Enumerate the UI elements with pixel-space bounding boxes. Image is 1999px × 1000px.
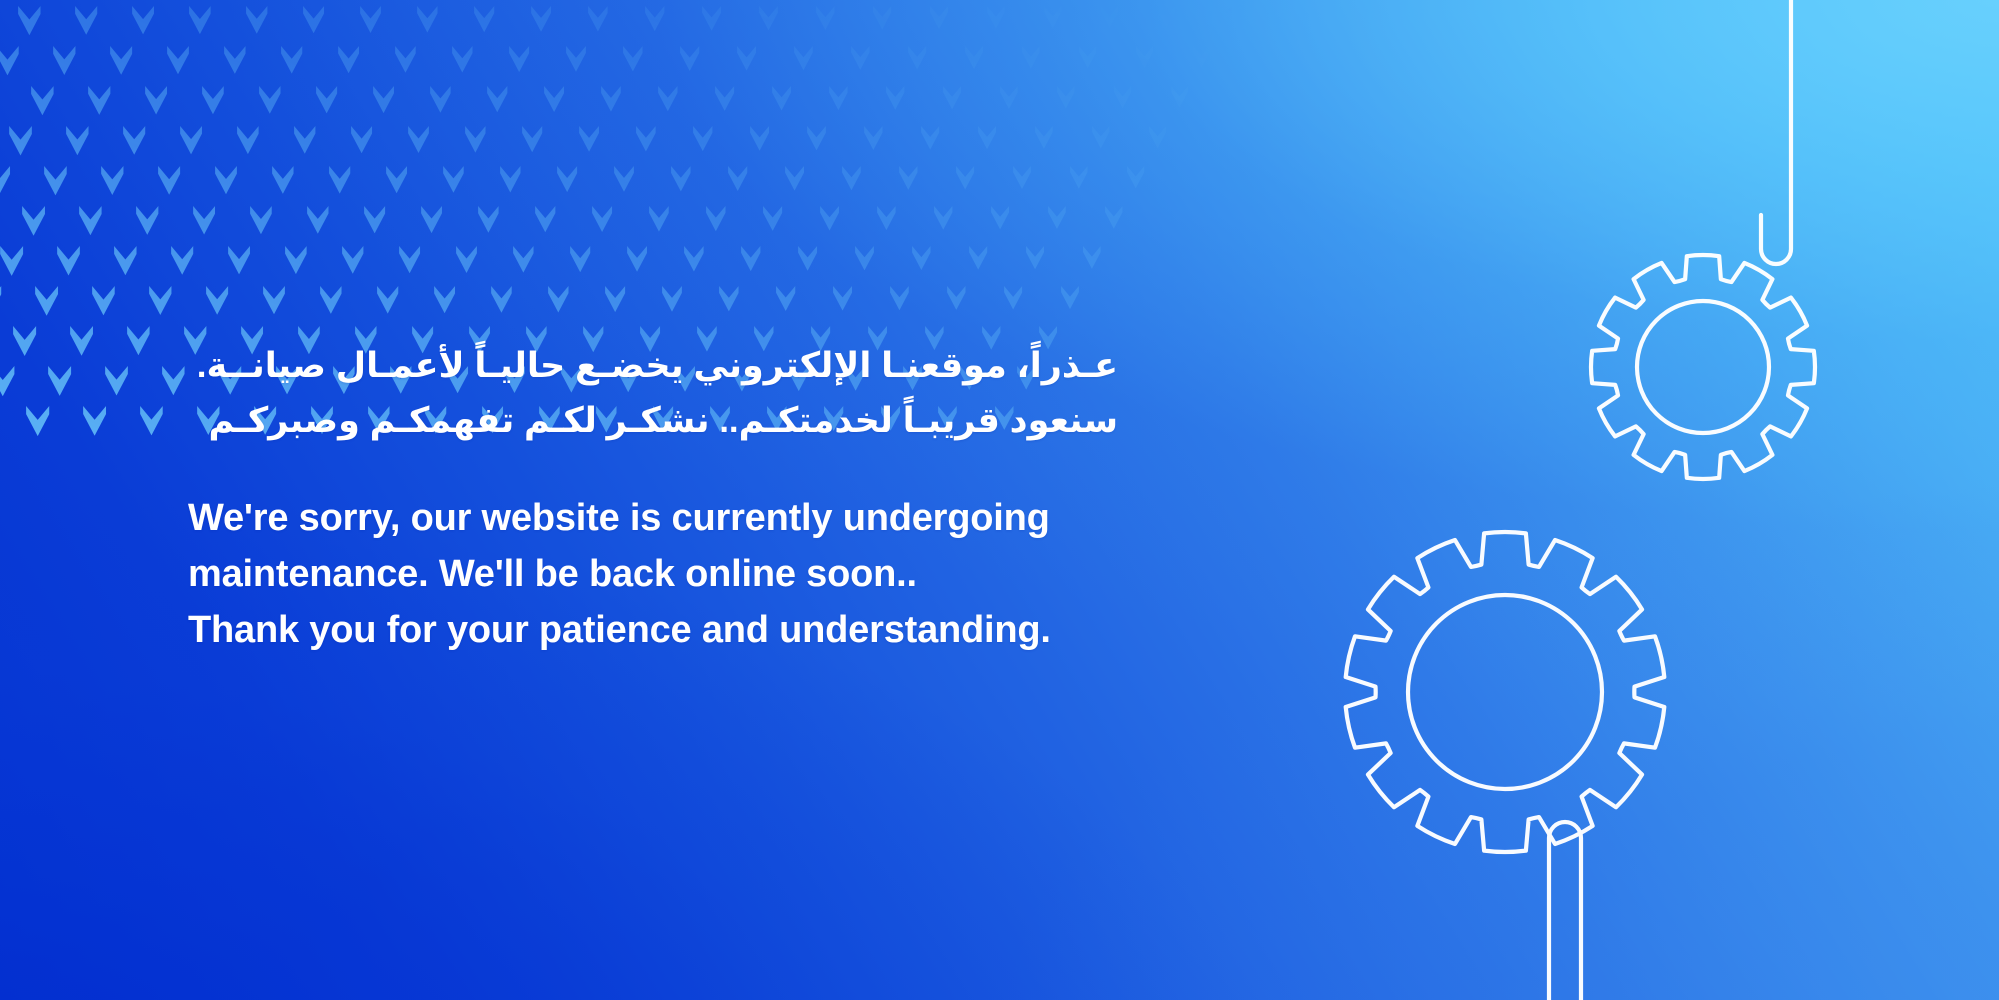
- english-line-3: Thank you for your patience and understa…: [188, 602, 1188, 658]
- arabic-message: عـذراً، موقعنـا الإلكتروني يخضـع حاليـاً…: [188, 338, 1118, 448]
- arabic-line-2: سنعود قريبـاً لخدمتكـم.. نشكـر لكـم تفهم…: [188, 393, 1118, 448]
- english-line-2: maintenance. We'll be back online soon..: [188, 546, 1188, 602]
- english-line-1: We're sorry, our website is currently un…: [188, 490, 1188, 546]
- message-block: عـذراً، موقعنـا الإلكتروني يخضـع حاليـاً…: [188, 338, 1188, 658]
- arabic-line-1: عـذراً، موقعنـا الإلكتروني يخضـع حاليـاً…: [188, 338, 1118, 393]
- maintenance-page: عـذراً، موقعنـا الإلكتروني يخضـع حاليـاً…: [0, 0, 1999, 1000]
- english-message: We're sorry, our website is currently un…: [188, 490, 1188, 658]
